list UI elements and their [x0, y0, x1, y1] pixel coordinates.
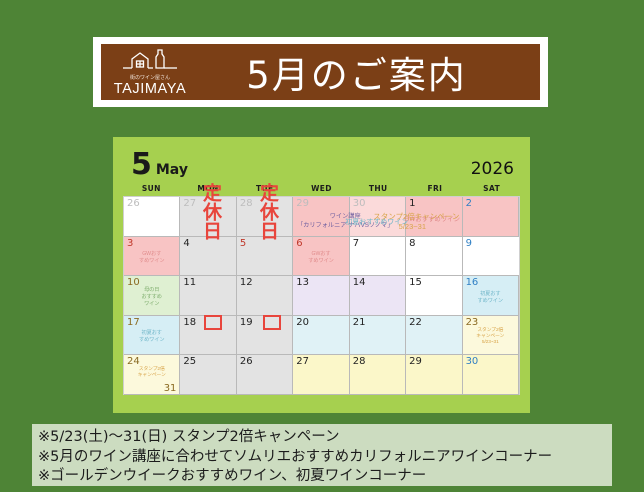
tajimaya-logo: 街のワイン屋さん TAJIMAYA [113, 48, 187, 96]
title-banner-inner: 街のワイン屋さん TAJIMAYA 5月のご案内 [101, 44, 540, 100]
footer-note-line: ※5/23(土)～31(日) スタンプ2倍キャンペーン [38, 428, 612, 448]
footer-notes: ※5/23(土)～31(日) スタンプ2倍キャンペーン ※5月のワイン講座に合わ… [32, 424, 612, 486]
day-number: 18 [183, 317, 196, 328]
day-cell[interactable]: 6 GWおす すめワイン [293, 237, 349, 277]
day-cell[interactable]: 25 [180, 355, 236, 395]
day-cell[interactable]: 1 [406, 197, 462, 237]
month-name: May [156, 163, 188, 177]
event-early-summer-wine: 初夏おす すめワイン [464, 291, 517, 305]
day-cell[interactable]: 28 [350, 355, 406, 395]
day-cell[interactable]: 22 [406, 316, 462, 356]
day-number: 28 [353, 356, 366, 367]
day-cell[interactable]: 8 [406, 237, 462, 277]
day-number: 5 [240, 238, 246, 249]
day-number: 3 [127, 238, 133, 249]
day-number: 22 [409, 317, 422, 328]
day-cell[interactable]: 19 [237, 316, 293, 356]
weekday-tue: TUE [236, 184, 293, 193]
day-number: 23 [466, 317, 479, 328]
weekday-mon: MON [180, 184, 237, 193]
day-number: 16 [466, 277, 479, 288]
day-cell[interactable]: 16 初夏おす すめワイン [463, 276, 519, 316]
day-cell[interactable]: 20 [293, 316, 349, 356]
day-cell[interactable]: 3 GWおす すめワイン [124, 237, 180, 277]
footer-note-line: ※ゴールデンウイークおすすめワイン、初夏ワインコーナー [38, 467, 612, 486]
day-cell[interactable]: 23 スタンプ2倍 キャンペーン 5/23~31 [463, 316, 519, 356]
footer-note-line: ※5月のワイン講座に合わせてソムリエおすすめカリフォルニアワインコーナー [38, 448, 612, 468]
day-cell[interactable]: 13 [293, 276, 349, 316]
calendar-grid: 26 27 28 29 30 1 2 [123, 196, 520, 395]
day-cell[interactable]: 30 [350, 197, 406, 237]
day-cell[interactable]: 2 [463, 197, 519, 237]
day-number: 8 [409, 238, 415, 249]
calendar-week-row: 24 スタンプ2倍 キャンペーン 31 25 26 27 28 29 [124, 355, 519, 395]
calendar-year: 2026 [471, 161, 514, 178]
day-number: 1 [409, 198, 415, 209]
calendar-panel: 5 May 2026 SUN MON TUE WED THU FRI SAT 2… [113, 137, 530, 413]
day-number-31: 31 [164, 383, 177, 394]
day-cell[interactable]: 26 [237, 355, 293, 395]
day-number: 15 [409, 277, 422, 288]
calendar-week-row: 10 母の日 おすすめ ワイン 11 12 13 14 15 [124, 276, 519, 316]
day-number: 7 [353, 238, 359, 249]
event-gw-wine: GWおす すめワイン [125, 251, 178, 265]
day-number: 29 [296, 198, 309, 209]
day-number: 2 [466, 198, 472, 209]
day-number: 17 [127, 317, 140, 328]
weekday-thu: THU [350, 184, 407, 193]
calendar-week-row: 17 初夏おす すめワイン 18 19 20 21 22 [124, 316, 519, 356]
day-number: 30 [353, 198, 366, 209]
day-number: 29 [409, 356, 422, 367]
day-cell[interactable]: 10 母の日 おすすめ ワイン [124, 276, 180, 316]
day-number: 11 [183, 277, 196, 288]
day-cell[interactable]: 24 スタンプ2倍 キャンペーン 31 [124, 355, 180, 395]
day-cell[interactable]: 9 [463, 237, 519, 277]
day-cell[interactable]: 4 [180, 237, 236, 277]
event-stamp-campaign: スタンプ2倍 キャンペーン [125, 367, 178, 380]
day-number: 24 [127, 356, 140, 367]
weekday-fri: FRI [407, 184, 464, 193]
day-cell[interactable]: 27 [293, 355, 349, 395]
logo-brand-name: TAJIMAYA [114, 82, 186, 97]
calendar-week-row: 3 GWおす すめワイン 4 5 6 GWおす すめワイン 7 8 [124, 237, 519, 277]
weekday-sat: SAT [463, 184, 520, 193]
day-number: 9 [466, 238, 472, 249]
wine-shop-house-icon [120, 48, 180, 74]
day-number: 19 [240, 317, 253, 328]
day-cell[interactable]: 29 [293, 197, 349, 237]
day-cell[interactable]: 18 [180, 316, 236, 356]
day-number: 4 [183, 238, 189, 249]
month-number: 5 [131, 150, 152, 180]
day-number: 26 [127, 198, 140, 209]
day-number: 28 [240, 198, 253, 209]
day-cell[interactable]: 14 [350, 276, 406, 316]
day-cell[interactable]: 17 初夏おす すめワイン [124, 316, 180, 356]
day-cell[interactable]: 12 [237, 276, 293, 316]
day-number: 21 [353, 317, 366, 328]
calendar-month: 5 May [131, 150, 188, 180]
day-cell[interactable]: 28 [237, 197, 293, 237]
day-number: 25 [183, 356, 196, 367]
logo-tagline: 街のワイン屋さん [130, 76, 170, 81]
weekday-header-row: SUN MON TUE WED THU FRI SAT [123, 181, 520, 196]
day-number: 27 [296, 356, 309, 367]
day-number: 27 [183, 198, 196, 209]
banner-title: 5月のご案内 [187, 45, 540, 99]
day-number: 13 [296, 277, 309, 288]
event-early-summer-wine: 初夏おす すめワイン [125, 330, 178, 344]
day-cell[interactable]: 5 [237, 237, 293, 277]
weekday-wed: WED [293, 184, 350, 193]
day-cell[interactable]: 11 [180, 276, 236, 316]
calendar-flyer: 街のワイン屋さん TAJIMAYA 5月のご案内 5 May 2026 SUN … [0, 0, 644, 492]
day-cell[interactable]: 7 [350, 237, 406, 277]
day-cell[interactable]: 29 [406, 355, 462, 395]
title-banner: 街のワイン屋さん TAJIMAYA 5月のご案内 [93, 37, 548, 107]
day-cell[interactable]: 26 [124, 197, 180, 237]
calendar-header: 5 May 2026 [123, 145, 520, 181]
day-cell[interactable]: 15 [406, 276, 462, 316]
calendar-week-row: 26 27 28 29 30 1 2 [124, 197, 519, 237]
weekday-sun: SUN [123, 184, 180, 193]
day-number: 20 [296, 317, 309, 328]
event-stamp-campaign: スタンプ2倍 キャンペーン 5/23~31 [464, 328, 517, 347]
day-cell[interactable]: 27 [180, 197, 236, 237]
day-number: 30 [466, 356, 479, 367]
day-number: 26 [240, 356, 253, 367]
day-number: 14 [353, 277, 366, 288]
day-cell[interactable]: 30 [463, 355, 519, 395]
day-number: 12 [240, 277, 253, 288]
event-mothers-day-wine: 母の日 おすすめ ワイン [125, 287, 178, 308]
event-gw-wine: GWおす すめワイン [294, 251, 347, 265]
day-cell[interactable]: 21 [350, 316, 406, 356]
day-number: 6 [296, 238, 302, 249]
